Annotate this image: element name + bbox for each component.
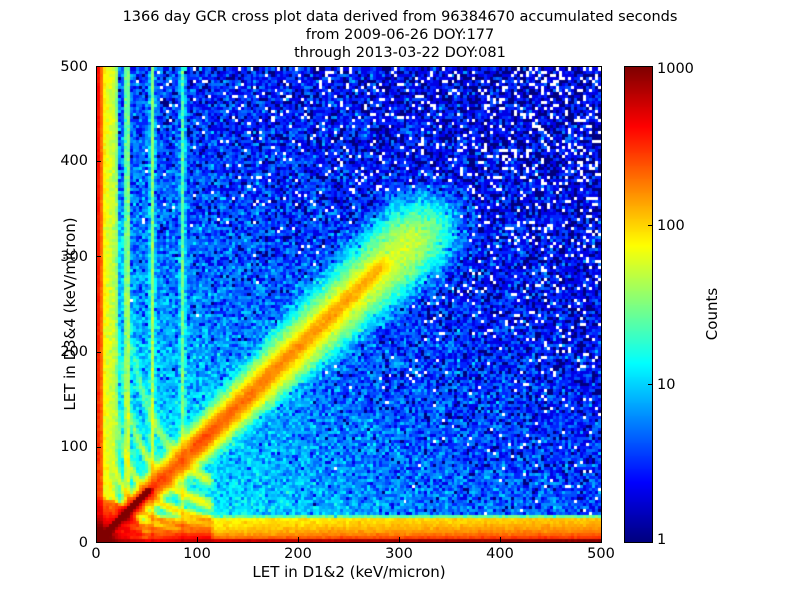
x-ticklabel-300: 300 xyxy=(385,546,413,562)
y-axis-label: LET in D3&4 (keV/micron) xyxy=(61,184,79,444)
y-tick-500 xyxy=(96,66,101,67)
x-tick-300 xyxy=(399,537,400,542)
x-ticklabel-100: 100 xyxy=(183,546,211,562)
y-ticklabel-500: 500 xyxy=(38,59,88,75)
colorbar-gradient xyxy=(625,67,652,542)
colorbar-title: Counts xyxy=(703,214,721,414)
x-tick-200 xyxy=(298,537,299,542)
colorbar xyxy=(624,66,653,543)
title-line-3: through 2013-03-22 DOY:081 xyxy=(0,44,800,62)
colorbar-ticklabel-10: 10 xyxy=(657,377,675,393)
y-tick-200 xyxy=(96,352,101,353)
x-ticklabel-400: 400 xyxy=(486,546,514,562)
colorbar-ticklabel-1: 1 xyxy=(657,532,666,548)
x-ticklabel-500: 500 xyxy=(587,546,615,562)
x-tick-100 xyxy=(197,537,198,542)
y-tick-300 xyxy=(96,256,101,257)
x-tick-500 xyxy=(601,537,602,542)
title-line-1: 1366 day GCR cross plot data derived fro… xyxy=(0,8,800,26)
y-tick-100 xyxy=(96,447,101,448)
x-ticklabel-200: 200 xyxy=(284,546,312,562)
colorbar-tick-100 xyxy=(648,225,653,226)
scatter-density-heatmap xyxy=(97,67,601,542)
x-axis-label: LET in D1&2 (keV/micron) xyxy=(96,563,602,581)
y-tick-0 xyxy=(96,542,101,543)
title-line-2: from 2009-06-26 DOY:177 xyxy=(0,26,800,44)
colorbar-tick-1000 xyxy=(648,66,653,67)
y-ticklabel-0: 0 xyxy=(38,535,88,551)
colorbar-ticklabel-100: 100 xyxy=(657,218,685,234)
x-ticklabel-0: 0 xyxy=(91,546,100,562)
y-ticklabel-400: 400 xyxy=(38,153,88,169)
figure-canvas: 1366 day GCR cross plot data derived fro… xyxy=(0,0,800,600)
colorbar-ticklabel-1000: 1000 xyxy=(657,61,694,77)
plot-axes xyxy=(96,66,602,543)
figure-title: 1366 day GCR cross plot data derived fro… xyxy=(0,8,800,62)
x-tick-400 xyxy=(500,537,501,542)
colorbar-tick-1 xyxy=(648,542,653,543)
colorbar-tick-10 xyxy=(648,384,653,385)
y-tick-400 xyxy=(96,161,101,162)
